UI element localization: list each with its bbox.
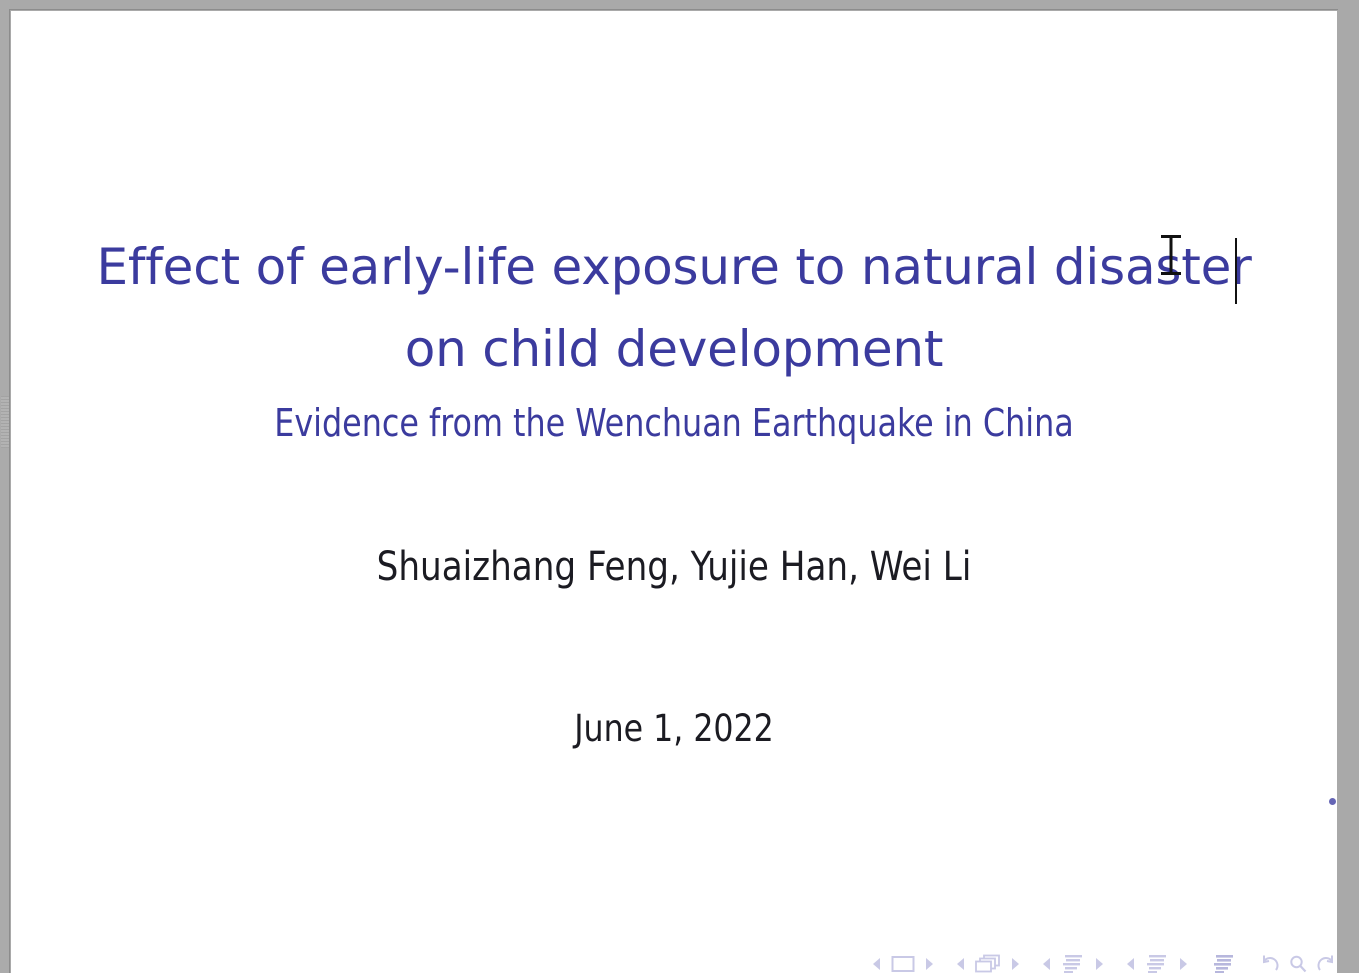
beamer-navigation-bar[interactable] <box>871 949 1337 973</box>
history-group[interactable] <box>1259 954 1337 973</box>
slide-subtitle: Evidence from the Wenchuan Earthquake in… <box>57 397 1290 449</box>
previous-slide-icon[interactable] <box>871 957 883 971</box>
text-caret <box>1235 238 1237 304</box>
previous-subsection-icon[interactable] <box>1041 957 1053 971</box>
back-arrow-icon[interactable] <box>1259 954 1281 973</box>
next-slide-icon[interactable] <box>923 957 935 971</box>
presentation-viewer-window: Effect of early-life exposure to natural… <box>0 0 1359 973</box>
title-line-2: on child development <box>11 308 1337 390</box>
search-icon[interactable] <box>1288 954 1308 973</box>
next-frame-icon[interactable] <box>1009 957 1021 971</box>
slide-navigation-group[interactable] <box>871 954 935 973</box>
frame-navigation-group[interactable] <box>955 953 1021 973</box>
subsection-lines-icon[interactable] <box>1060 953 1086 973</box>
beamer-marker-dot <box>1329 798 1336 805</box>
subsection-navigation-group[interactable] <box>1041 953 1105 973</box>
slide-title: Effect of early-life exposure to natural… <box>11 226 1337 390</box>
slide-icon[interactable] <box>890 954 916 973</box>
section-lines-icon[interactable] <box>1144 953 1170 973</box>
section-navigation-group[interactable] <box>1125 953 1189 973</box>
slide-date: June 1, 2022 <box>44 703 1304 755</box>
title-line-1: Effect of early-life exposure to natural… <box>11 226 1337 308</box>
scrollbar-thumb[interactable] <box>1 396 9 448</box>
next-section-icon[interactable] <box>1177 957 1189 971</box>
slide-authors: Shuaizhang Feng, Yujie Han, Wei Li <box>44 539 1304 595</box>
previous-frame-icon[interactable] <box>955 957 967 971</box>
frame-stack-icon[interactable] <box>974 953 1002 973</box>
slide-page[interactable]: Effect of early-life exposure to natural… <box>11 11 1337 973</box>
next-subsection-icon[interactable] <box>1093 957 1105 971</box>
previous-section-icon[interactable] <box>1125 957 1137 971</box>
presentation-icon[interactable] <box>1211 953 1237 973</box>
forward-arrow-icon[interactable] <box>1315 954 1337 973</box>
